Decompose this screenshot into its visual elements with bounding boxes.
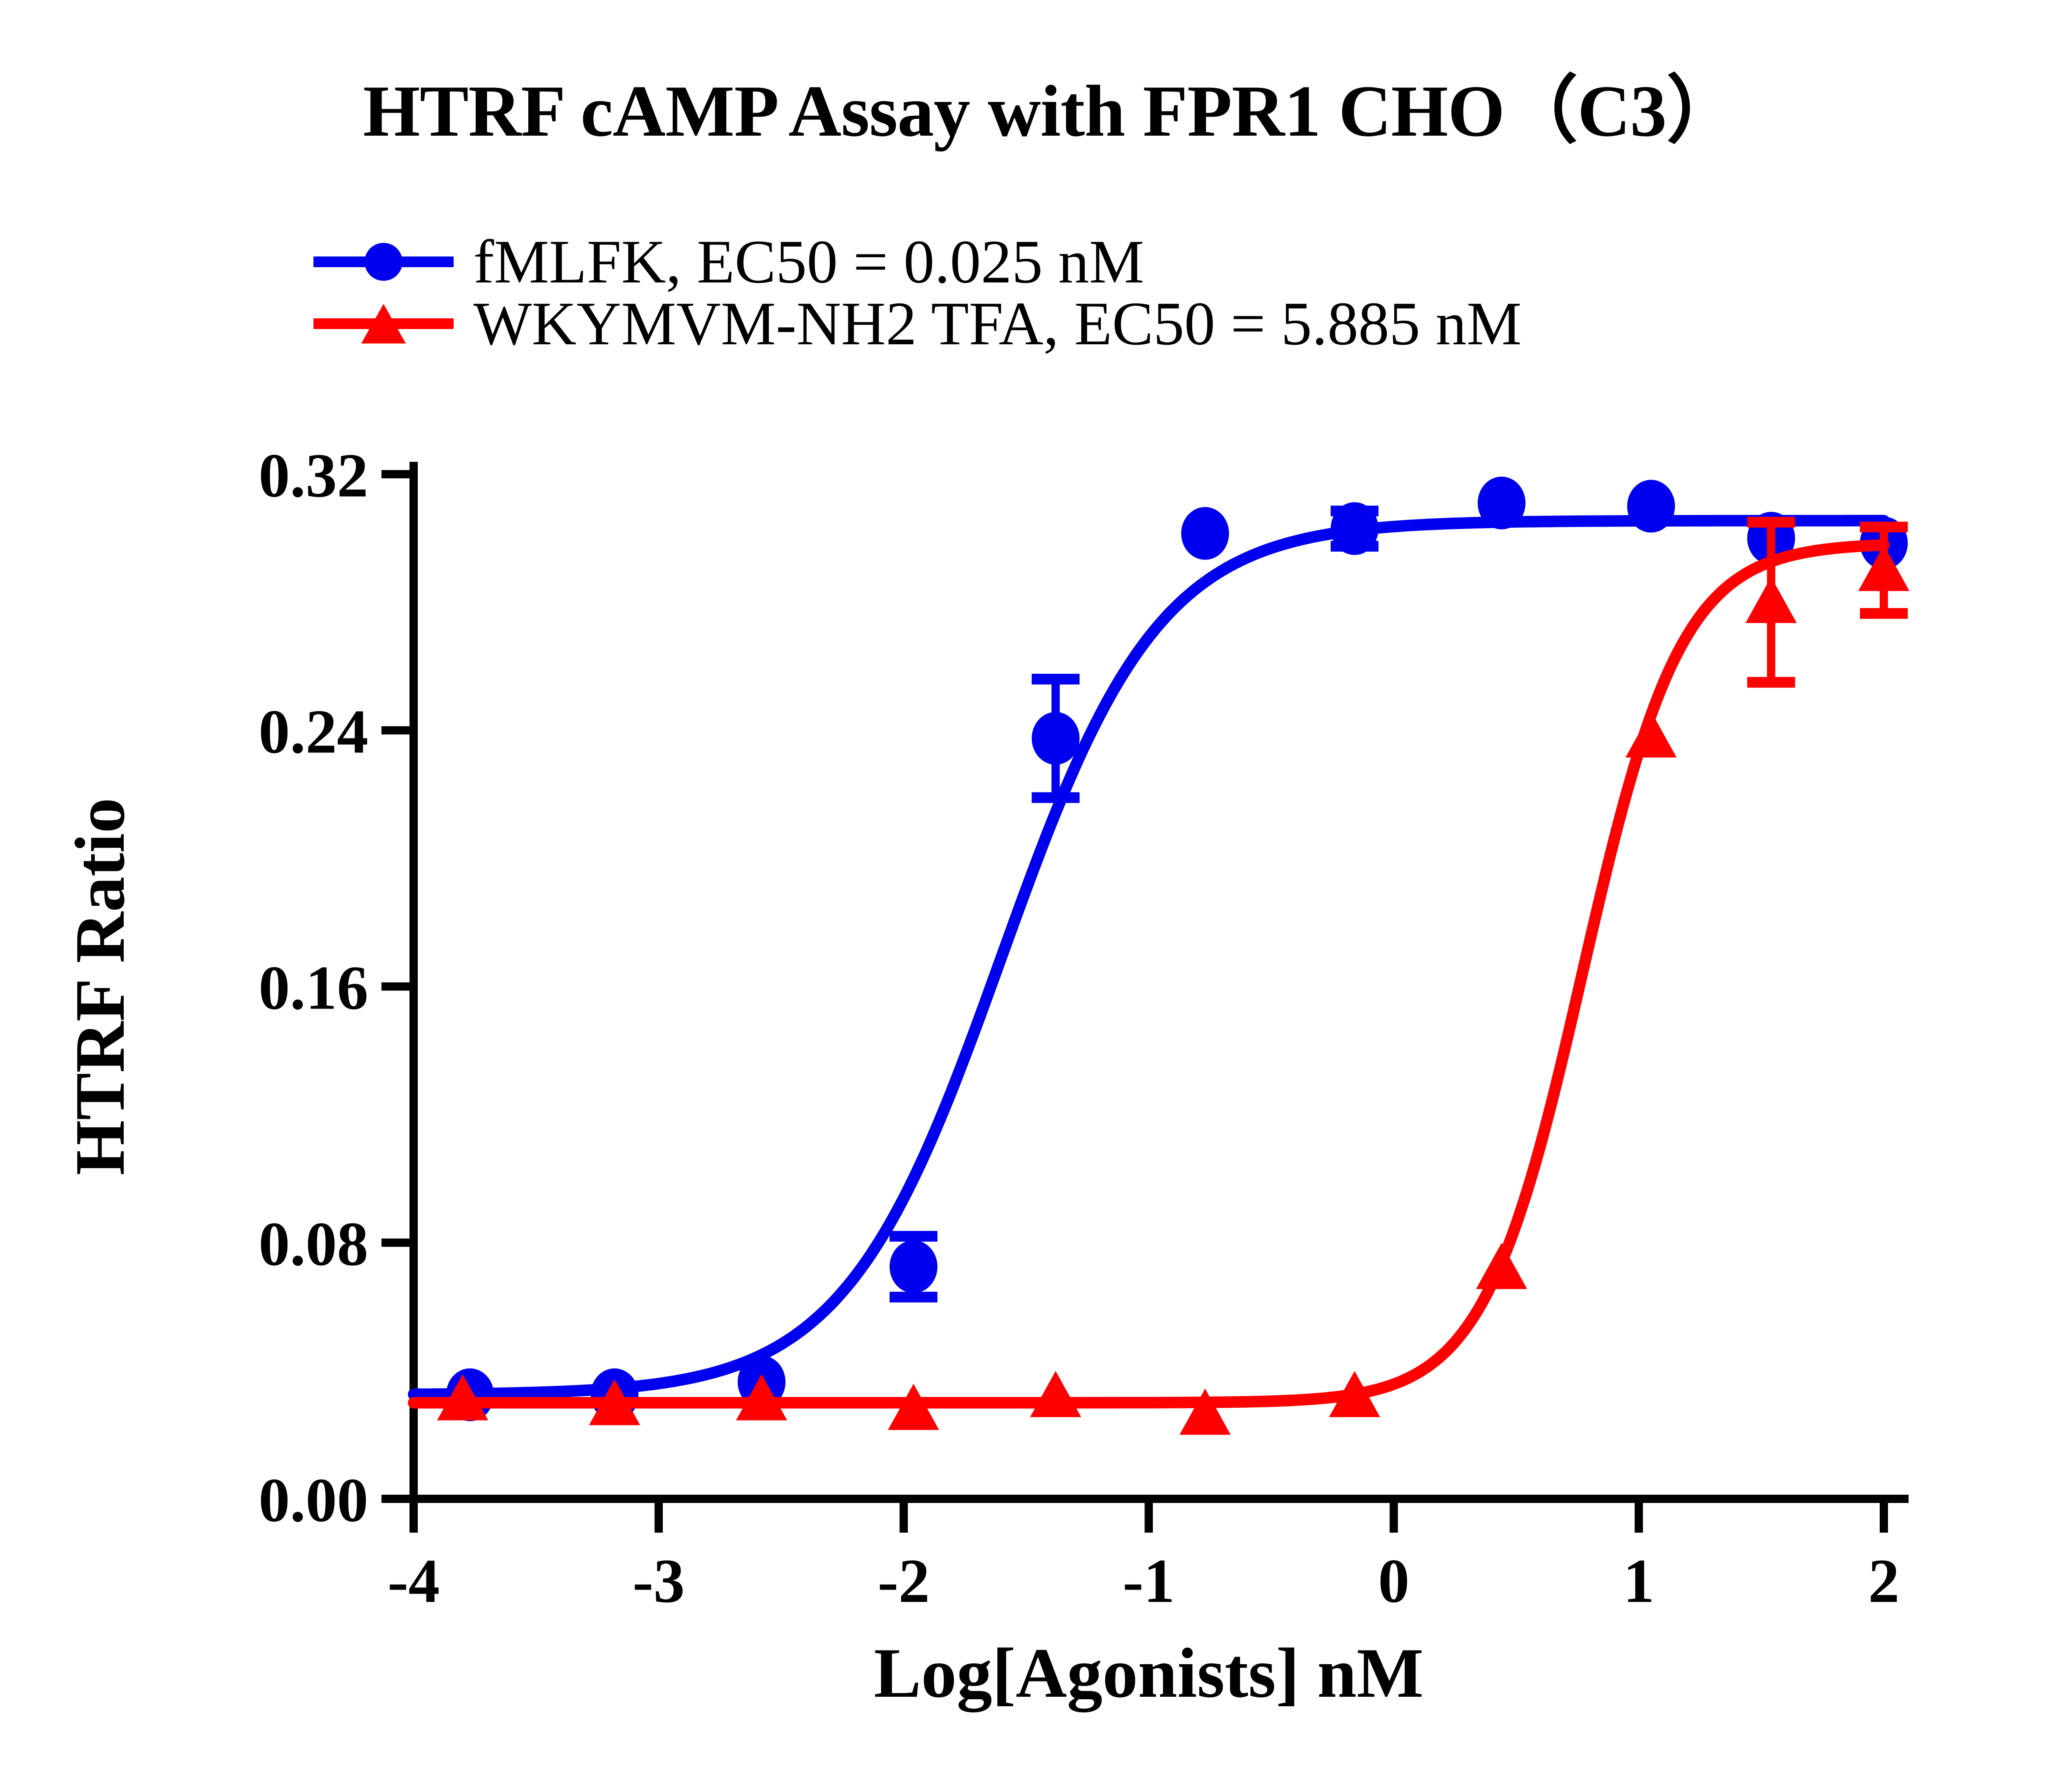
- x-tick-label: -1: [1123, 1546, 1175, 1616]
- data-point-circle: [1181, 507, 1229, 560]
- chart-svg: 0.000.080.160.240.32-4-3-2-1012Log[Agoni…: [0, 0, 2062, 1792]
- series-curve-0: [414, 521, 1884, 1395]
- x-tick-label: 0: [1378, 1546, 1410, 1616]
- x-tick-label: 2: [1868, 1546, 1900, 1616]
- y-tick-label: 0.08: [259, 1209, 368, 1279]
- data-point-triangle: [1626, 711, 1677, 757]
- y-tick-label: 0.00: [259, 1465, 368, 1535]
- plot-area-container: 0.000.080.160.240.32-4-3-2-1012Log[Agoni…: [0, 0, 2062, 1792]
- figure-root: HTRF cAMP Assay with FPR1 CHO（C3） fMLFK,…: [0, 0, 2062, 1792]
- data-point-circle: [1478, 477, 1525, 529]
- y-axis-title: HTRF Ratio: [61, 798, 139, 1176]
- x-tick-label: -3: [633, 1546, 685, 1616]
- axis-labels: 0.000.080.160.240.32-4-3-2-1012Log[Agoni…: [61, 441, 1900, 1712]
- data-point-circle: [1032, 712, 1080, 765]
- series-curve-1: [414, 545, 1884, 1403]
- data-series: [414, 477, 1909, 1435]
- x-tick-label: 1: [1623, 1546, 1655, 1616]
- data-point-circle: [1627, 480, 1675, 533]
- data-point-triangle: [1476, 1243, 1527, 1289]
- x-tick-label: -2: [878, 1546, 930, 1616]
- y-tick-label: 0.16: [259, 953, 368, 1023]
- x-axis-title: Log[Agonists] nM: [874, 1634, 1424, 1712]
- data-point-circle: [1331, 502, 1379, 555]
- data-point-triangle: [1030, 1371, 1081, 1417]
- y-tick-label: 0.24: [259, 697, 368, 766]
- x-tick-label: -4: [388, 1546, 440, 1616]
- y-tick-label: 0.32: [259, 441, 368, 510]
- data-point-triangle: [1746, 577, 1797, 623]
- data-point-triangle: [1179, 1389, 1231, 1435]
- data-point-circle: [890, 1240, 937, 1293]
